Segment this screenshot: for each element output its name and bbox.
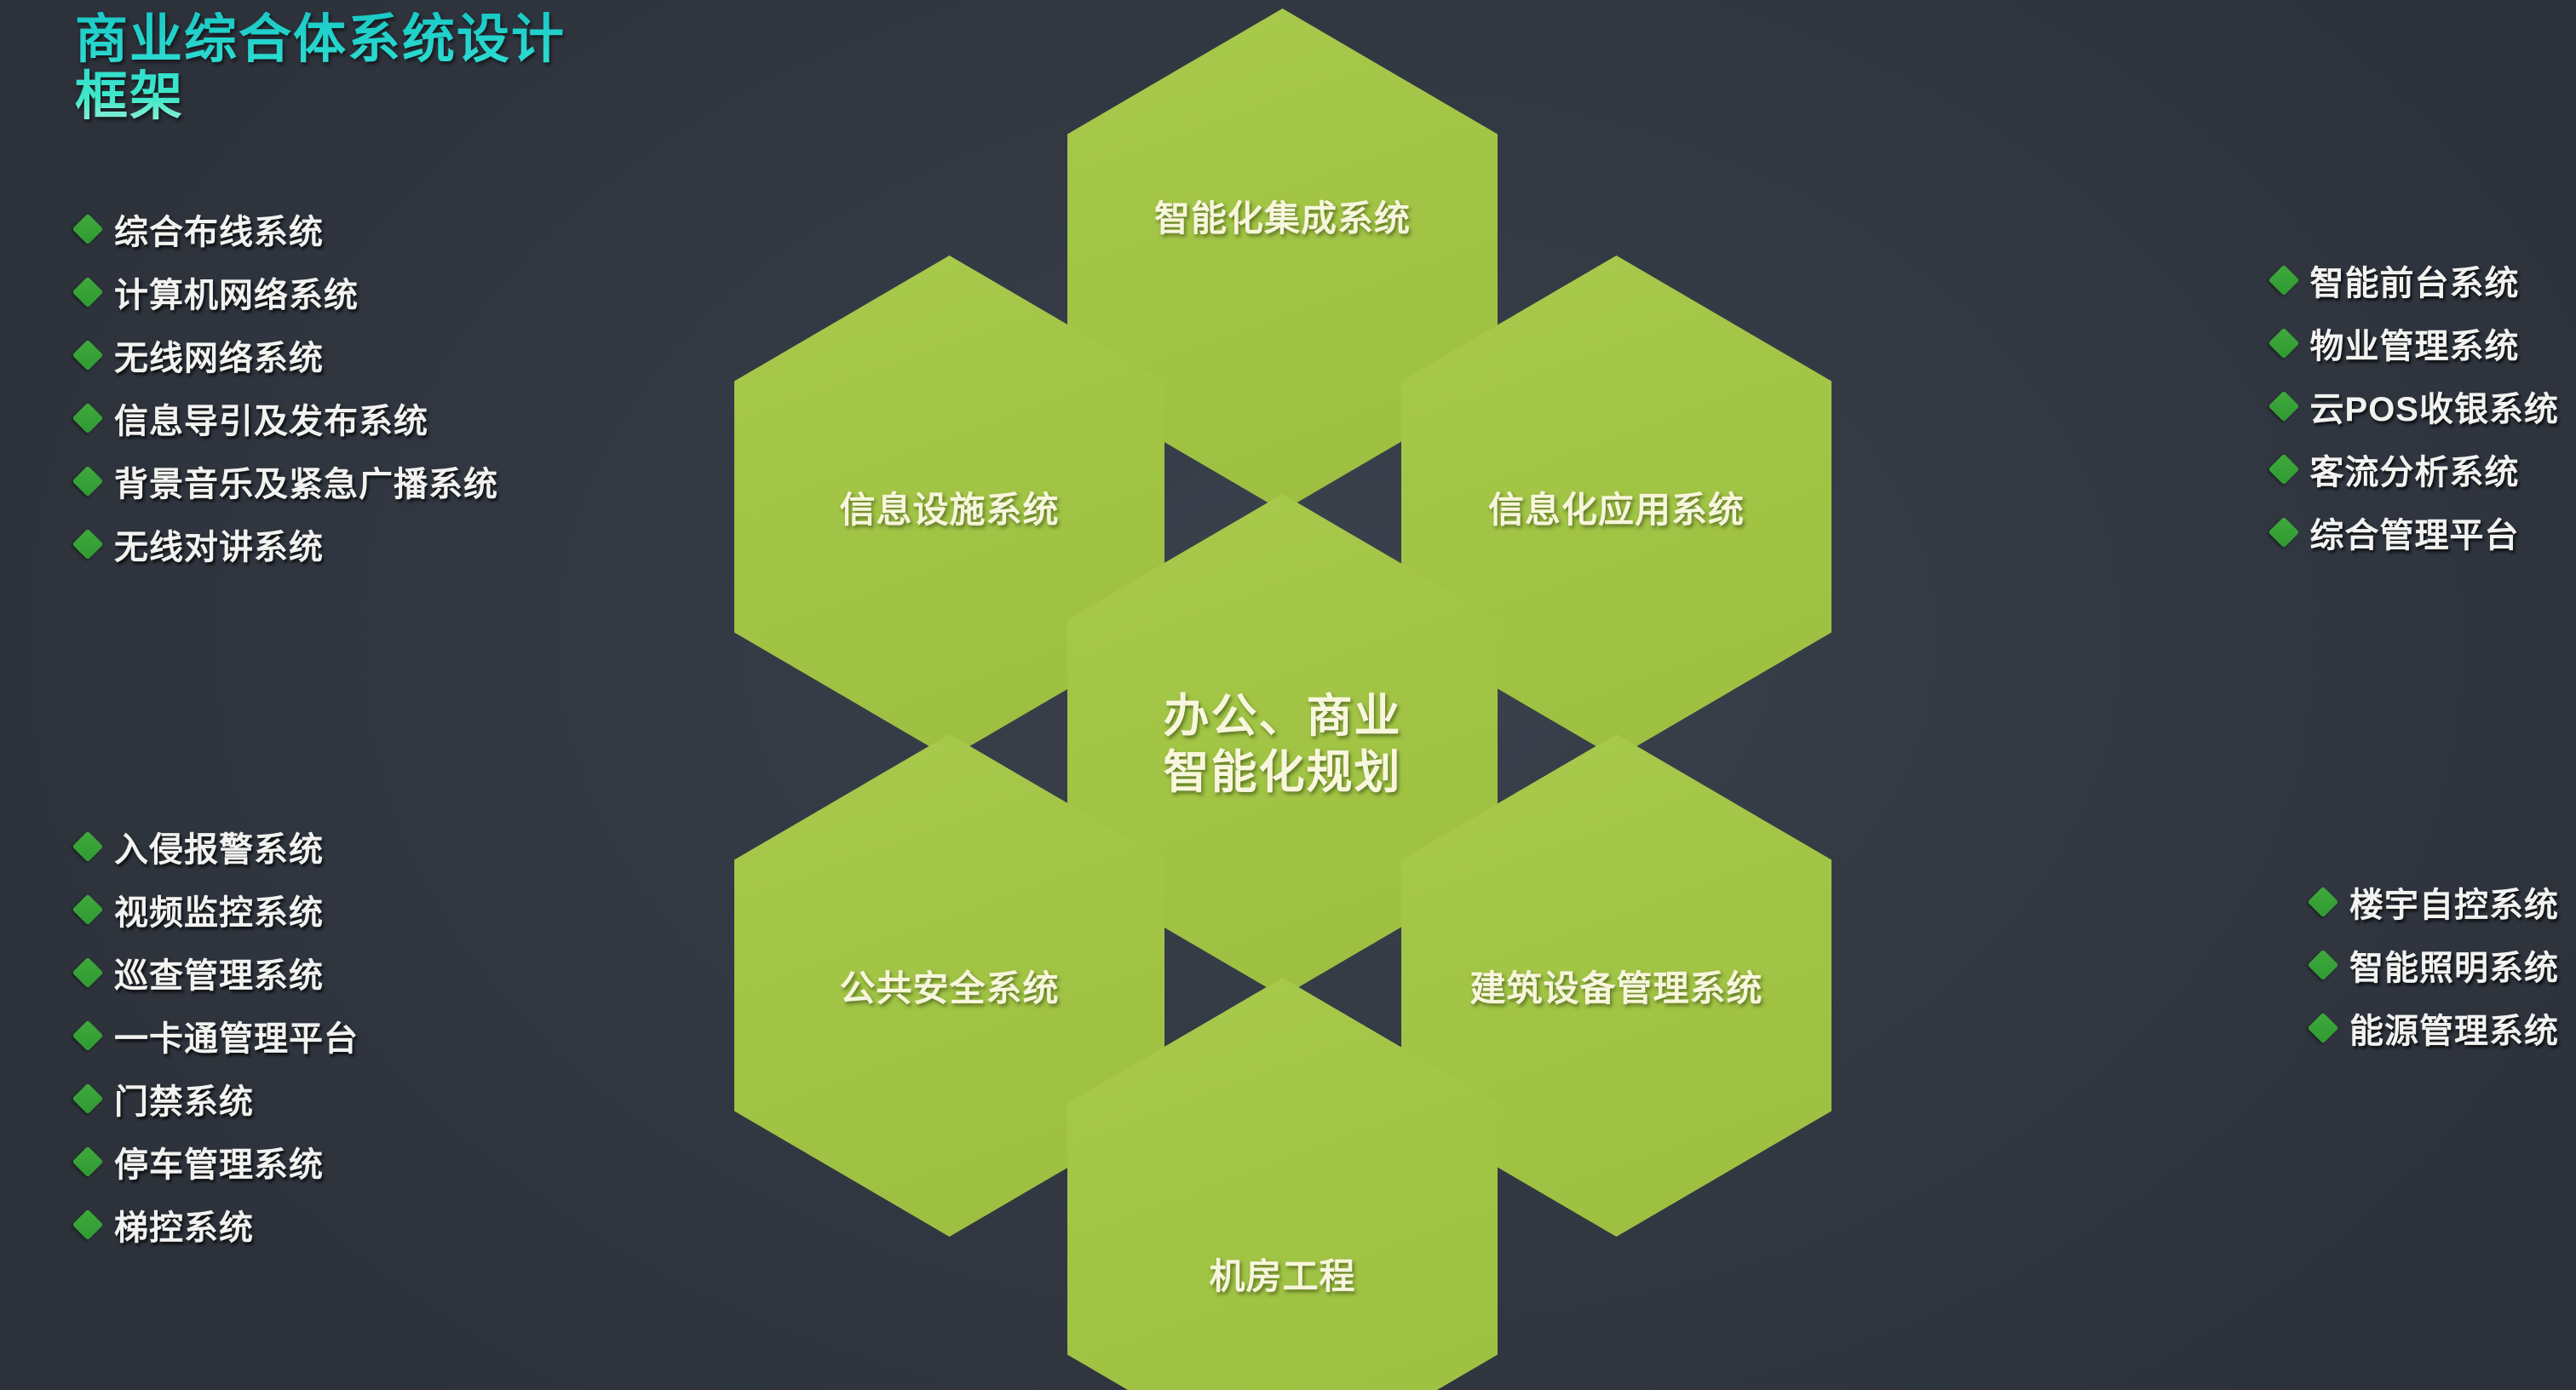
hexagon-label: 机房工程: [1209, 1248, 1355, 1300]
diamond-bullet-icon: [72, 214, 104, 245]
list-item-label: 门禁系统: [114, 1074, 254, 1123]
list-top-right: 智能前台系统物业管理系统云POS收银系统客流分析系统综合管理平台: [2273, 256, 2559, 571]
list-item[interactable]: 客流分析系统: [2273, 445, 2559, 494]
diamond-bullet-icon: [72, 957, 104, 989]
list-item-label: 停车管理系统: [114, 1137, 324, 1186]
list-item[interactable]: 视频监控系统: [77, 885, 359, 934]
list-item-label: 云POS收银系统: [2310, 382, 2559, 431]
hexagon-label: 公共安全系统: [839, 960, 1059, 1012]
list-item-label: 综合布线系统: [114, 204, 324, 254]
list-item-label: 一卡通管理平台: [114, 1011, 359, 1060]
list-item[interactable]: 物业管理系统: [2273, 319, 2559, 368]
list-item-label: 客流分析系统: [2310, 445, 2520, 494]
diamond-bullet-icon: [2268, 391, 2299, 422]
list-item-label: 视频监控系统: [114, 885, 324, 934]
diamond-bullet-icon: [72, 894, 104, 926]
diamond-bullet-icon: [72, 1083, 104, 1115]
list-item[interactable]: 综合管理平台: [2273, 508, 2559, 557]
diamond-bullet-icon: [72, 831, 104, 863]
diamond-bullet-icon: [2268, 265, 2299, 296]
list-item[interactable]: 智能前台系统: [2273, 256, 2559, 305]
list-item[interactable]: 梯控系统: [77, 1200, 359, 1249]
list-bottom-right: 楼宇自控系统智能照明系统能源管理系统: [2312, 877, 2559, 1066]
list-item[interactable]: 背景音乐及紧急广播系统: [77, 457, 498, 506]
list-item[interactable]: 无线对讲系统: [77, 520, 498, 569]
diamond-bullet-icon: [72, 1020, 104, 1052]
list-item-label: 智能前台系统: [2310, 256, 2520, 305]
hexagon-label: 智能化集成系统: [1154, 190, 1411, 242]
diamond-bullet-icon: [2268, 328, 2299, 359]
slide-canvas: 商业综合体系统设计 框架 智能化集成系统 信息设施系统 信息化应用系统 办公、商…: [0, 0, 2576, 1390]
diamond-bullet-icon: [72, 277, 104, 308]
hexagon-center-label: 办公、商业 智能化规划: [1164, 689, 1402, 801]
diamond-bullet-icon: [2268, 517, 2299, 549]
diamond-bullet-icon: [2308, 1013, 2339, 1044]
list-item-label: 能源管理系统: [2349, 1003, 2559, 1053]
list-item[interactable]: 计算机网络系统: [77, 267, 498, 317]
list-item-label: 综合管理平台: [2310, 508, 2520, 557]
list-item[interactable]: 入侵报警系统: [77, 822, 359, 871]
list-item[interactable]: 门禁系统: [77, 1074, 359, 1123]
diamond-bullet-icon: [72, 340, 104, 371]
list-item-label: 入侵报警系统: [114, 822, 324, 871]
list-item[interactable]: 智能照明系统: [2312, 940, 2559, 990]
diamond-bullet-icon: [2308, 887, 2339, 918]
list-item-label: 梯控系统: [114, 1200, 254, 1249]
list-item[interactable]: 停车管理系统: [77, 1137, 359, 1186]
list-item[interactable]: 一卡通管理平台: [77, 1011, 359, 1060]
list-item-label: 无线网络系统: [114, 330, 324, 380]
list-bottom-left: 入侵报警系统视频监控系统巡查管理系统一卡通管理平台门禁系统停车管理系统梯控系统: [77, 822, 359, 1263]
hexagon-label: 信息设施系统: [839, 481, 1059, 533]
list-item-label: 智能照明系统: [2349, 940, 2559, 990]
hexagon-label: 信息化应用系统: [1488, 481, 1745, 533]
diamond-bullet-icon: [2268, 454, 2299, 485]
diamond-bullet-icon: [72, 1209, 104, 1241]
diamond-bullet-icon: [72, 403, 104, 434]
list-item-label: 物业管理系统: [2310, 319, 2520, 368]
diamond-bullet-icon: [2308, 950, 2339, 981]
diamond-bullet-icon: [72, 466, 104, 497]
list-item[interactable]: 综合布线系统: [77, 204, 498, 254]
list-item[interactable]: 巡查管理系统: [77, 948, 359, 997]
hexagon-label: 建筑设备管理系统: [1469, 960, 1762, 1012]
list-item-label: 背景音乐及紧急广播系统: [114, 457, 498, 506]
list-top-left: 综合布线系统计算机网络系统无线网络系统信息导引及发布系统背景音乐及紧急广播系统无…: [77, 204, 498, 583]
list-item-label: 信息导引及发布系统: [114, 393, 428, 443]
list-item-label: 巡查管理系统: [114, 948, 324, 997]
list-item[interactable]: 云POS收银系统: [2273, 382, 2559, 431]
list-item-label: 楼宇自控系统: [2349, 877, 2559, 927]
list-item[interactable]: 能源管理系统: [2312, 1003, 2559, 1053]
list-item[interactable]: 信息导引及发布系统: [77, 393, 498, 443]
diamond-bullet-icon: [72, 529, 104, 560]
diamond-bullet-icon: [72, 1146, 104, 1178]
list-item[interactable]: 无线网络系统: [77, 330, 498, 380]
list-item-label: 无线对讲系统: [114, 520, 324, 569]
list-item[interactable]: 楼宇自控系统: [2312, 877, 2559, 927]
list-item-label: 计算机网络系统: [114, 267, 359, 317]
